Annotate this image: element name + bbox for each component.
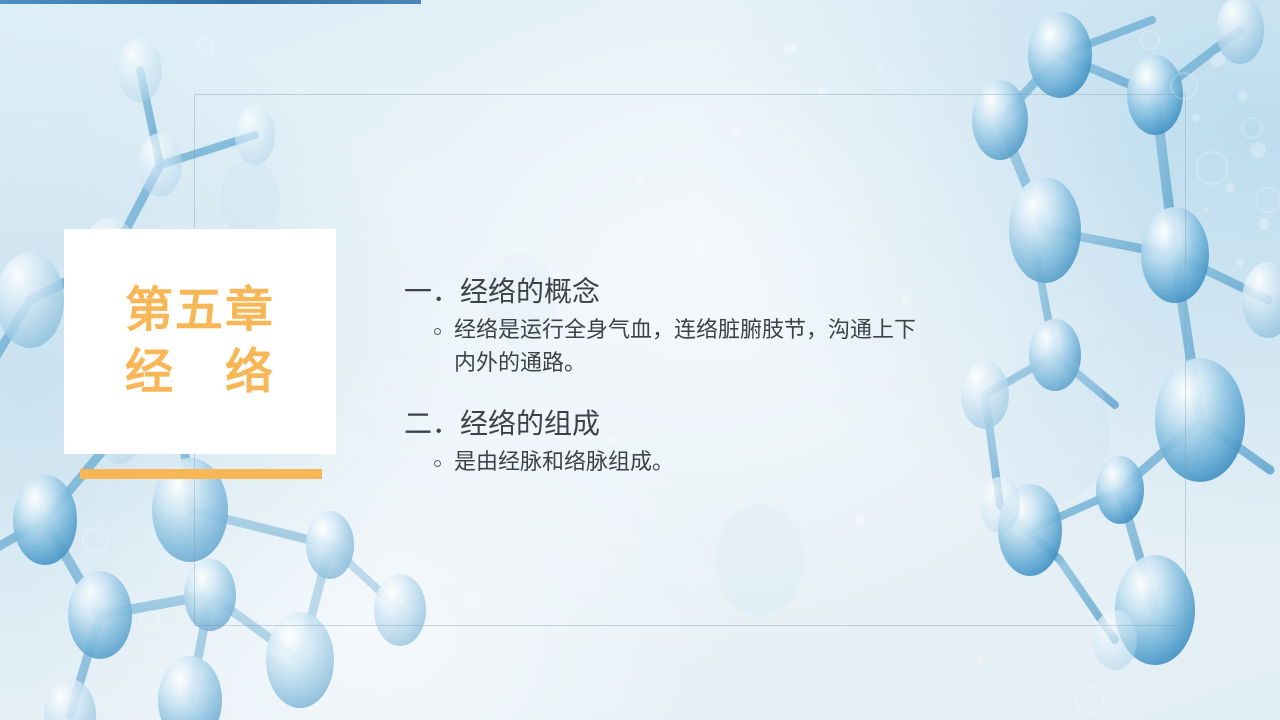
bullet-list: 经络是运行全身气血，连络脏腑肢节，沟通上下内外的通路。 — [404, 314, 1004, 380]
presentation-slide: 第五章 经 络 一．经络的概念 经络是运行全身气血，连络脏腑肢节，沟通上下内外的… — [0, 0, 1280, 720]
chapter-title-card: 第五章 经 络 — [64, 229, 336, 454]
list-item: 是由经脉和络脉组成。 — [432, 446, 924, 479]
section-heading: 一．经络的概念 — [404, 272, 1004, 312]
chapter-title-line-1: 第五章 — [125, 280, 275, 341]
slide-content: 一．经络的概念 经络是运行全身气血，连络脏腑肢节，沟通上下内外的通路。 二．经络… — [404, 272, 1004, 483]
title-accent-underline — [80, 469, 322, 479]
list-item: 经络是运行全身气血，连络脏腑肢节，沟通上下内外的通路。 — [432, 314, 924, 380]
chapter-title-line-2: 经 络 — [125, 342, 275, 403]
content-section: 一．经络的概念 经络是运行全身气血，连络脏腑肢节，沟通上下内外的通路。 — [404, 272, 1004, 380]
top-accent-rule — [0, 0, 421, 4]
content-section: 二．经络的组成 是由经脉和络脉组成。 — [404, 404, 1004, 479]
bullet-list: 是由经脉和络脉组成。 — [404, 446, 1004, 479]
section-heading: 二．经络的组成 — [404, 404, 1004, 444]
